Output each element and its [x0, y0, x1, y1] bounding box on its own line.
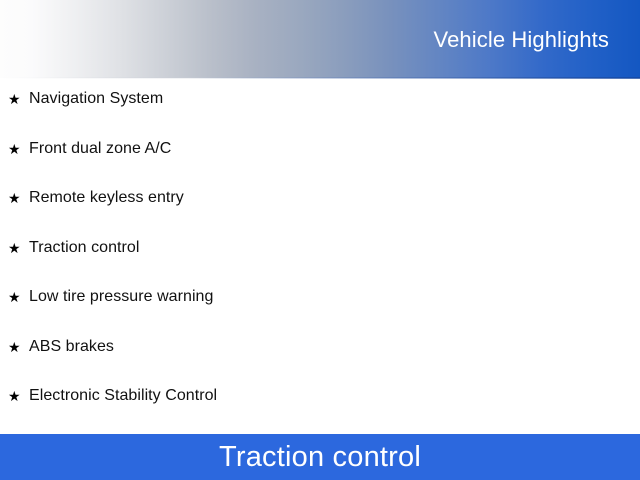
star-bullet-icon: ★ — [8, 187, 29, 209]
list-item: ★ Electronic Stability Control — [0, 385, 640, 435]
list-item-label: Traction control — [29, 237, 139, 259]
list-item-label: Electronic Stability Control — [29, 385, 217, 407]
star-bullet-icon: ★ — [8, 385, 29, 407]
star-bullet-icon: ★ — [8, 88, 29, 110]
header-underline-divider — [0, 77, 640, 79]
star-bullet-icon: ★ — [8, 336, 29, 358]
footer-caption: Traction control — [0, 440, 640, 474]
page-title: Vehicle Highlights — [434, 27, 609, 53]
star-bullet-icon: ★ — [8, 138, 29, 160]
list-item: ★ Front dual zone A/C — [0, 138, 640, 188]
list-item-label: Front dual zone A/C — [29, 138, 171, 160]
list-item: ★ Low tire pressure warning — [0, 286, 640, 336]
list-item: ★ Navigation System — [0, 88, 640, 138]
list-item: ★ Remote keyless entry — [0, 187, 640, 237]
footer-band: Traction control — [0, 434, 640, 480]
list-item: ★ ABS brakes — [0, 336, 640, 386]
vehicle-highlights-list: ★ Navigation System ★ Front dual zone A/… — [0, 88, 640, 435]
star-bullet-icon: ★ — [8, 286, 29, 308]
list-item-label: Remote keyless entry — [29, 187, 184, 209]
star-bullet-icon: ★ — [8, 237, 29, 259]
list-item-label: ABS brakes — [29, 336, 114, 358]
list-item-label: Low tire pressure warning — [29, 286, 213, 308]
list-item: ★ Traction control — [0, 237, 640, 287]
list-item-label: Navigation System — [29, 88, 163, 110]
slide-canvas: Vehicle Highlights ★ Navigation System ★… — [0, 0, 640, 480]
